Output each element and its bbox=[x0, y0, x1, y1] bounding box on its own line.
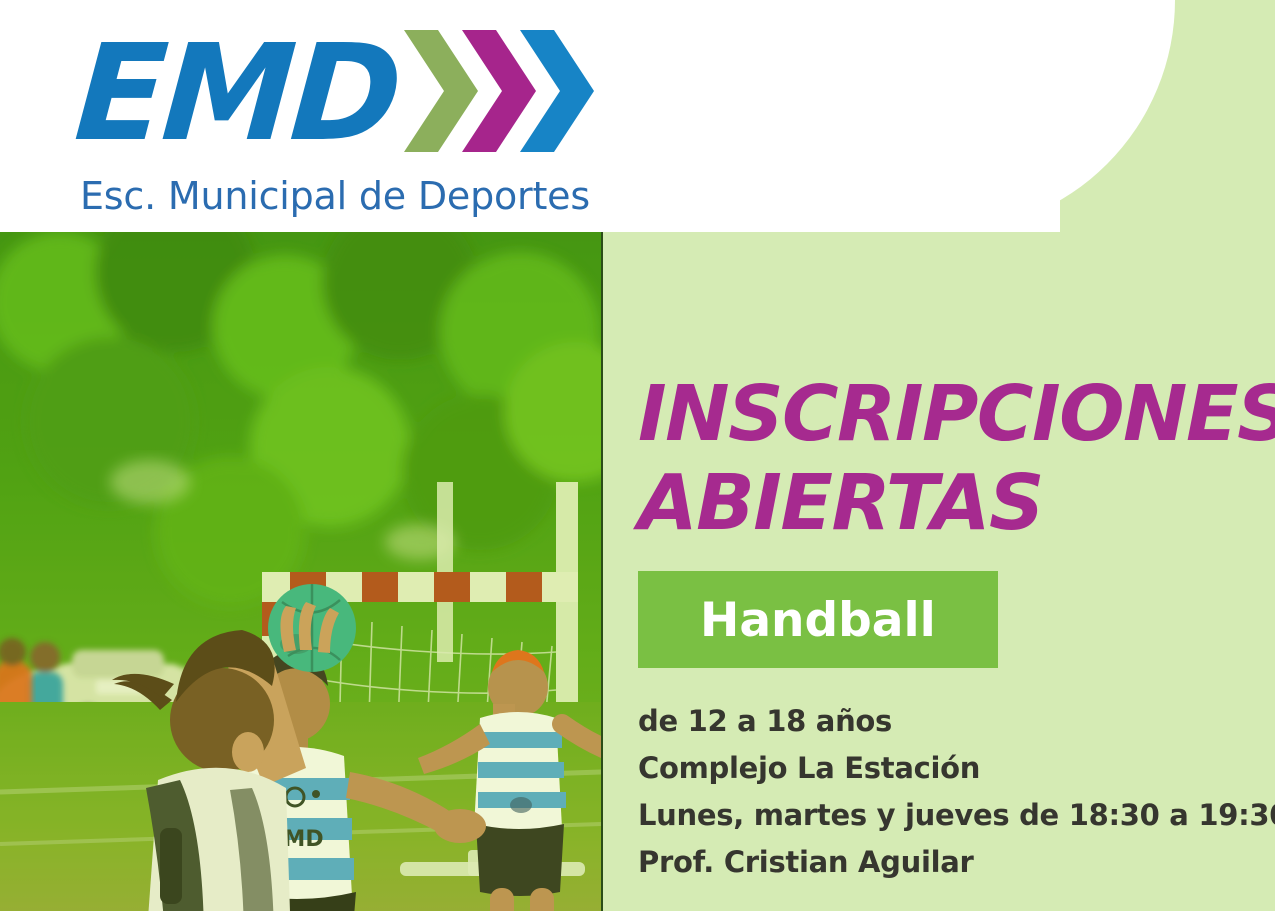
poster-content: INSCRIPCIONES ABIERTAS Handball de 12 a … bbox=[638, 370, 1248, 887]
handball-photo-illustration: EMD bbox=[0, 232, 601, 911]
promotional-poster: EMD Esc. Municipal de Deportes bbox=[0, 0, 1275, 911]
detail-instructor: Prof. Cristian Aguilar bbox=[638, 839, 1248, 886]
logo-tagline: Esc. Municipal de Deportes bbox=[80, 174, 594, 218]
page-title: INSCRIPCIONES ABIERTAS bbox=[638, 370, 1248, 549]
logo-wordmark: EMD bbox=[71, 28, 402, 161]
emd-logo: EMD Esc. Municipal de Deportes bbox=[76, 26, 594, 218]
sport-badge: Handball bbox=[638, 571, 998, 668]
chevron-blue-icon bbox=[520, 30, 594, 152]
logo-mark: EMD bbox=[76, 26, 594, 162]
details-list: de 12 a 18 años Complejo La Estación Lun… bbox=[638, 698, 1248, 887]
detail-location: Complejo La Estación bbox=[638, 745, 1248, 792]
handball-photo: EMD bbox=[0, 232, 603, 911]
detail-age-range: de 12 a 18 años bbox=[638, 698, 1248, 745]
detail-schedule: Lunes, martes y jueves de 18:30 a 19:30 … bbox=[638, 792, 1248, 839]
logo-chevron-group bbox=[404, 30, 594, 152]
